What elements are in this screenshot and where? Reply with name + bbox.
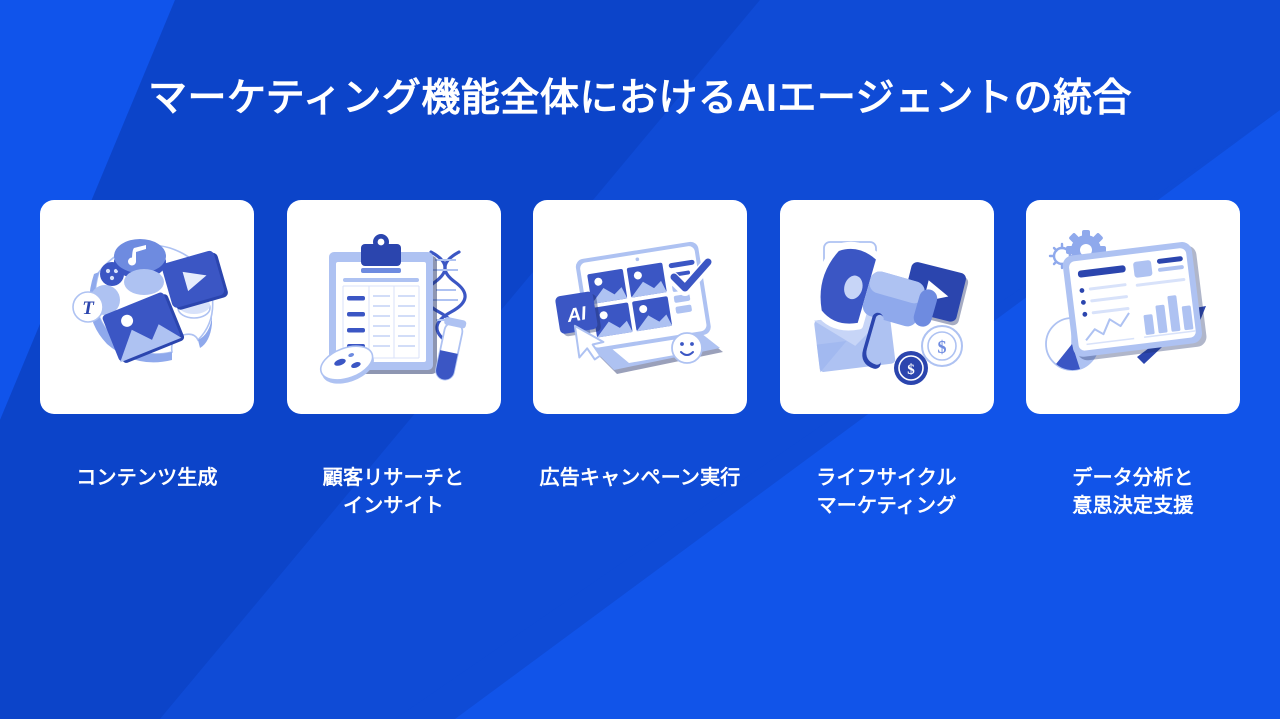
card-tile-customer-research[interactable]: [287, 200, 501, 414]
megaphone-illustration: $ $: [792, 212, 982, 402]
svg-text:$: $: [907, 362, 915, 378]
page-title: マーケティング機能全体におけるAIエージェントの統合: [0, 75, 1280, 124]
dashboard-analytics-illustration: [1038, 212, 1228, 402]
card-label-customer-research: 顧客リサーチと インサイト: [323, 464, 464, 520]
clipboard-research-illustration: [299, 212, 489, 402]
card-label-content-generation: コンテンツ生成: [76, 464, 217, 492]
card-customer-research[interactable]: 顧客リサーチと インサイト: [287, 200, 501, 520]
card-label-ad-campaign: 広告キャンペーン実行: [540, 464, 741, 492]
card-content-generation[interactable]: T コンテンツ生成: [40, 200, 254, 520]
card-ad-campaign[interactable]: AI 広告キャンペーン実行: [533, 200, 747, 520]
laptop-ad-illustration: AI: [545, 212, 735, 402]
card-label-lifecycle-marketing: ライフサイクル マーケティング: [816, 464, 956, 520]
card-lifecycle-marketing[interactable]: $ $ ライフサイクル マーケティング: [780, 200, 994, 520]
card-tile-ad-campaign[interactable]: AI: [533, 200, 747, 414]
svg-text:AI: AI: [565, 303, 589, 327]
card-tile-lifecycle-marketing[interactable]: $ $: [780, 200, 994, 414]
card-data-analysis[interactable]: データ分析と 意思決定支援: [1026, 200, 1240, 520]
card-tile-content-generation[interactable]: T: [40, 200, 254, 414]
svg-text:T: T: [82, 298, 95, 319]
card-tile-data-analysis[interactable]: [1026, 200, 1240, 414]
slide-root: マーケティング機能全体におけるAIエージェントの統合: [0, 0, 1280, 719]
card-label-data-analysis: データ分析と 意思決定支援: [1072, 464, 1193, 520]
svg-text:$: $: [937, 337, 946, 357]
capability-card-row: T コンテンツ生成: [40, 200, 1240, 520]
artist-palette-illustration: T: [52, 212, 242, 402]
